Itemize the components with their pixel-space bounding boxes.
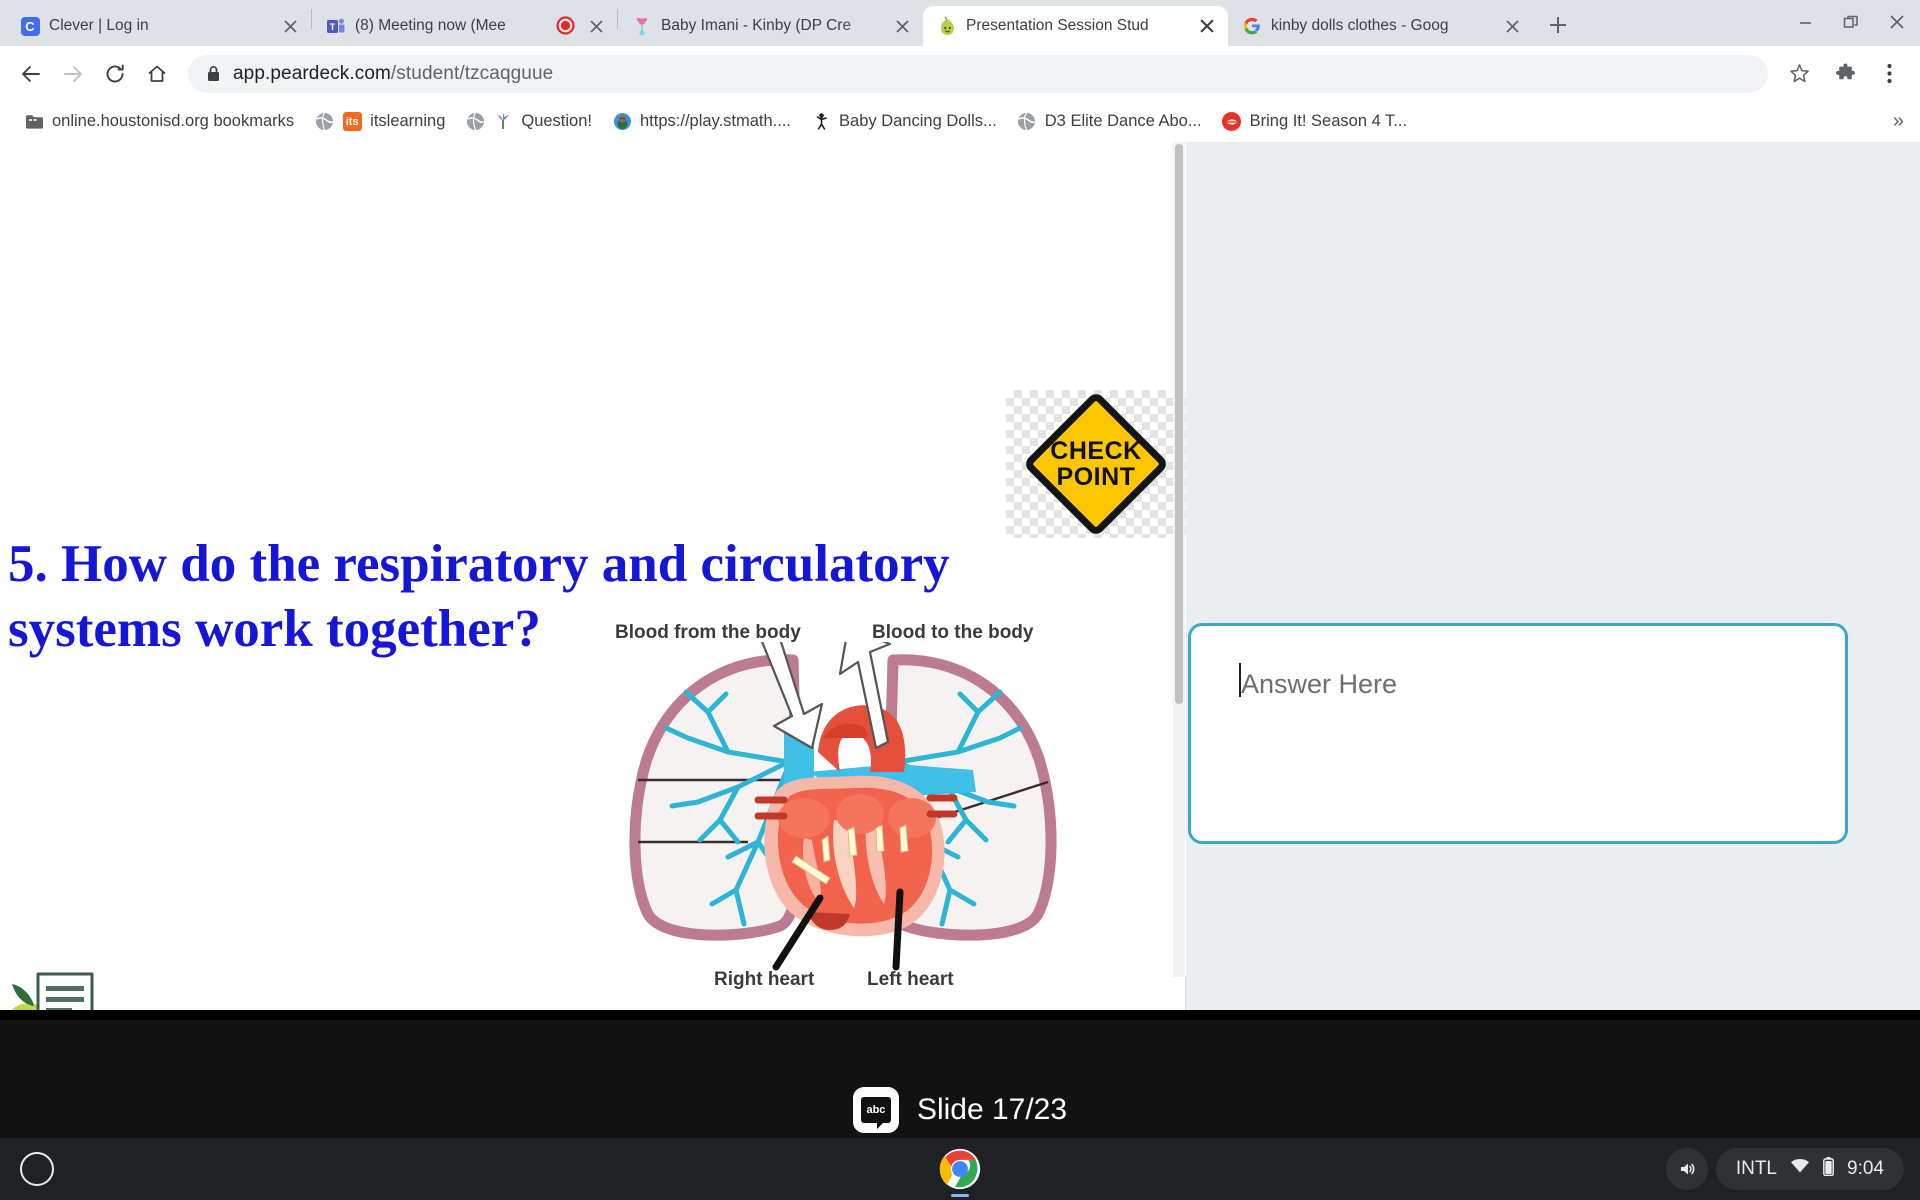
puzzle-icon[interactable] [1826,55,1864,93]
new-tab-button[interactable] [1541,8,1575,42]
address-bar[interactable]: app.peardeck.com/student/tzcaqguue [188,55,1768,93]
tab-title: (8) Meeting now (Mee [355,17,547,35]
tab-baby-imani[interactable]: Baby Imani - Kinby (DP Cre [618,6,923,46]
close-icon[interactable] [1196,15,1218,37]
launcher-icon[interactable] [20,1152,54,1186]
bringit-icon [1222,112,1242,132]
google-icon [1242,16,1262,36]
tab-presentation-session[interactable]: Presentation Session Stud [923,6,1228,46]
teams-icon: T [326,16,346,36]
svg-text:T: T [329,22,335,32]
tab-clever[interactable]: C Clever | Log in [6,6,311,46]
bookmark-label: D3 Elite Dance Abo... [1045,112,1202,131]
bookmark-label: Bring It! Season 4 T... [1250,112,1407,131]
restore-icon[interactable] [1828,2,1874,42]
slide-content: CHECK POINT 5. How do the respiratory an… [0,142,1186,977]
folder-icon [24,112,44,132]
its-icon: its [342,112,362,132]
tab-kinby-dolls-clothes[interactable]: kinby dolls clothes - Goog [1228,6,1533,46]
globe-icon [1017,112,1037,132]
close-icon[interactable] [1874,2,1920,42]
home-icon[interactable] [138,55,176,93]
tab-title: Presentation Session Stud [966,17,1187,35]
dancing-dolls-icon [811,112,831,132]
clever-icon: C [20,16,40,36]
back-arrow-icon[interactable] [12,55,50,93]
bookmarks-bar: online.houstonisd.org bookmarks its itsl… [0,101,1920,142]
bookmark-label: https://play.stmath.... [640,112,791,131]
label-right-heart: Right heart [714,969,814,991]
speaker-icon[interactable] [1666,1148,1708,1190]
bookmark-baby-dancing-dolls[interactable]: Baby Dancing Dolls... [801,107,1007,137]
bookmark-label: online.houstonisd.org bookmarks [52,112,294,131]
bookmark-itslearning[interactable]: its itslearning [304,107,455,137]
peardeck-icon [937,16,957,36]
label-blood-to-body: Blood to the body [872,622,1033,644]
browser-window: C Clever | Log in T (8) Meeting now (Mee [0,0,1920,1010]
shelf-app-list [938,1147,982,1191]
globe-icon [465,112,485,132]
input-method-label: INTL [1736,1158,1777,1180]
peardeck-pear-mascot-icon [0,972,100,1010]
minimize-icon[interactable] [1782,2,1828,42]
checkpoint-sign: CHECK POINT [1006,390,1186,538]
reload-icon[interactable] [96,55,134,93]
bookmark-label: itslearning [370,112,445,131]
stmath-icon [612,112,632,132]
wifi-icon [1790,1158,1810,1180]
close-icon[interactable] [891,15,913,37]
tab-meeting-now[interactable]: T (8) Meeting now (Mee [312,6,617,46]
globe-icon [314,112,334,132]
bookmark-question[interactable]: Question! [455,107,602,137]
slide-scrollbar-thumb[interactable] [1175,144,1183,704]
url-text: app.peardeck.com/student/tzcaqguue [233,63,553,85]
bookmark-online-houstonisd[interactable]: online.houstonisd.org bookmarks [14,107,304,137]
chrome-icon[interactable] [938,1147,982,1191]
bookmark-label: Question! [521,112,592,131]
url-path: /student/tzcaqguue [391,63,553,84]
tab-title: Clever | Log in [49,17,270,35]
tab-strip: C Clever | Log in T (8) Meeting now (Mee [0,0,1920,46]
question-icon [493,112,513,132]
battery-icon [1823,1157,1834,1182]
abc-icon-text: abc [861,1097,891,1123]
status-tray[interactable]: INTL 9:04 [1716,1148,1904,1190]
label-left-heart: Left heart [867,969,954,991]
three-dot-menu-icon[interactable] [1870,55,1908,93]
answer-pane: Answer Here [1186,142,1920,1010]
rattle-icon [632,16,652,36]
bookmark-label: Baby Dancing Dolls... [839,112,997,131]
page-viewport: CHECK POINT 5. How do the respiratory an… [0,142,1920,1010]
close-icon[interactable] [1501,15,1523,37]
answer-input[interactable]: Answer Here [1188,623,1848,844]
tab-title: Baby Imani - Kinby (DP Cre [661,17,882,35]
url-domain: app.peardeck.com [233,63,391,84]
tab-title: kinby dolls clothes - Goog [1271,17,1492,35]
checkpoint-text: CHECK POINT [1006,438,1186,491]
close-icon[interactable] [279,15,301,37]
lock-icon [206,65,221,82]
abc-textbox-icon: abc [853,1087,899,1133]
checkpoint-line2: POINT [1006,464,1186,490]
window-controls [1782,2,1920,46]
slide-pane: CHECK POINT 5. How do the respiratory an… [0,142,1186,1010]
heart-lungs-diagram-image [608,642,1078,972]
bookmarks-overflow-button[interactable]: » [1883,106,1914,137]
bookmark-bring-it-season-4[interactable]: Bring It! Season 4 T... [1212,107,1417,137]
bookmark-d3-elite-dance[interactable]: D3 Elite Dance Abo... [1007,107,1212,137]
browser-toolbar: app.peardeck.com/student/tzcaqguue [0,46,1920,101]
close-icon[interactable] [585,15,607,37]
app-active-indicator [951,1194,969,1197]
slide-counter: Slide 17/23 [917,1093,1067,1127]
star-icon[interactable] [1780,55,1818,93]
label-blood-from-body: Blood from the body [615,622,801,644]
recording-indicator-icon [556,16,576,36]
answer-placeholder: Answer Here [1241,669,1397,700]
forward-arrow-icon[interactable] [54,55,92,93]
bookmark-play-stmath[interactable]: https://play.stmath.... [602,107,801,137]
system-tray: INTL 9:04 [1666,1148,1904,1190]
checkpoint-line1: CHECK [1006,438,1186,464]
chromeos-shelf: INTL 9:04 [0,1138,1920,1200]
clock-label: 9:04 [1847,1158,1884,1180]
slide-scrollbar[interactable] [1173,142,1185,977]
